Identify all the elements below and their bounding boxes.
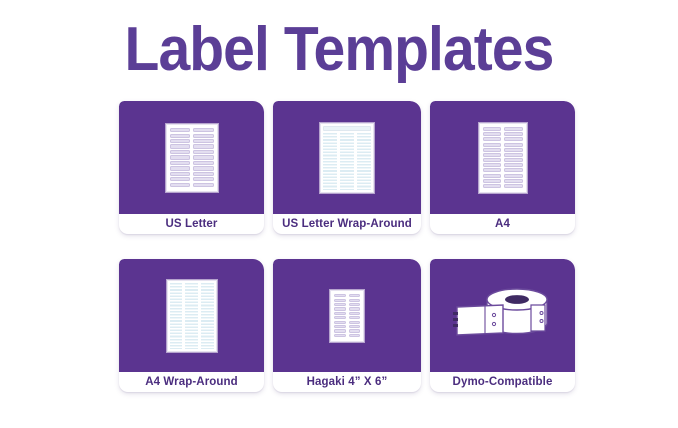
template-card-us-letter[interactable]: US Letter bbox=[119, 101, 264, 234]
card-art bbox=[119, 259, 264, 372]
template-card-grid: US Letter US Letter Wrap-Around bbox=[119, 101, 575, 392]
card-art bbox=[119, 101, 264, 214]
card-art bbox=[273, 259, 421, 372]
card-art bbox=[273, 101, 421, 214]
template-card-a4-wrap-around[interactable]: A4 Wrap-Around bbox=[119, 259, 264, 392]
card-label: Dymo-Compatible bbox=[430, 372, 575, 392]
card-label: A4 bbox=[430, 214, 575, 234]
card-label: A4 Wrap-Around bbox=[119, 372, 264, 392]
wrap-around-sheet-icon bbox=[320, 123, 374, 193]
template-card-us-letter-wrap-around[interactable]: US Letter Wrap-Around bbox=[273, 101, 421, 234]
card-label: US Letter bbox=[119, 214, 264, 234]
label-sheet-icon bbox=[166, 124, 218, 192]
label-roll-icon bbox=[451, 285, 555, 347]
label-sheet-icon bbox=[479, 123, 527, 193]
page-title: Label Templates bbox=[27, 14, 651, 86]
card-art bbox=[430, 101, 575, 214]
template-card-hagaki[interactable]: Hagaki 4” X 6” bbox=[273, 259, 421, 392]
template-card-a4[interactable]: A4 bbox=[430, 101, 575, 234]
card-art bbox=[430, 259, 575, 372]
card-label: US Letter Wrap-Around bbox=[273, 214, 421, 234]
card-label: Hagaki 4” X 6” bbox=[273, 372, 421, 392]
label-sheet-icon bbox=[330, 290, 364, 342]
page-root: Label Templates bbox=[0, 0, 678, 428]
wrap-around-sheet-icon bbox=[167, 280, 217, 352]
template-card-dymo-compatible[interactable]: Dymo-Compatible bbox=[430, 259, 575, 392]
